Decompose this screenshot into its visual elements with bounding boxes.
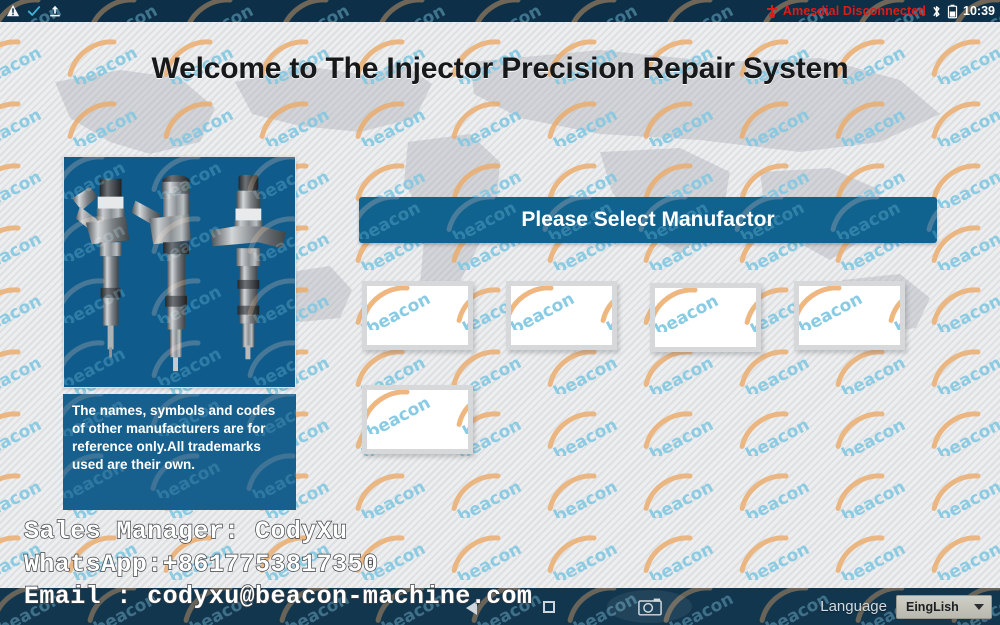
product-image-watermark [63,156,296,388]
trademark-disclaimer: The names, symbols and codes of other ma… [63,394,296,510]
language-select[interactable]: EingLish [896,595,992,619]
disclaimer-text: The names, symbols and codes of other ma… [72,403,275,472]
manufacturer-tile-grid [362,281,942,454]
select-manufactor-label: Please Select Manufactor [521,208,774,232]
screenshot-button[interactable] [607,590,692,623]
connection-status-text: Amesdial Disconnected [783,4,926,18]
contact-info-block: Sales Manager: CodyXu WhatsApp:+86177538… [24,516,532,614]
page-title: Welcome to The Injector Precision Repair… [0,52,1000,86]
tile-watermark [362,385,473,454]
contact-line-whatsapp: WhatsApp:+8617753817350 [24,549,532,582]
warning-triangle-icon [6,4,20,18]
camera-icon [638,597,662,616]
manufacturer-tile-3[interactable] [650,283,761,352]
status-bar-left-icons [6,0,62,22]
tile-watermark [650,283,761,352]
language-control: Language EingLish [820,588,992,625]
battery-icon [947,4,958,19]
chevron-down-icon [974,604,984,610]
manufacturer-tile-2[interactable] [506,281,617,350]
alert-cross-icon [766,4,778,18]
product-image-injectors [63,156,296,388]
select-manufactor-button[interactable]: Please Select Manufactor [359,197,937,243]
contact-line-email: Email : codyxu@beacon-machine.com [24,581,532,614]
contact-line-sales-manager: Sales Manager: CodyXu [24,516,532,549]
status-bar: Amesdial Disconnected 10:39 [0,0,1000,22]
status-bar-right-cluster: Amesdial Disconnected 10:39 [766,0,995,22]
tile-watermark [506,281,617,350]
app-root: Amesdial Disconnected 10:39 Welcome to T… [0,0,1000,625]
manufacturer-tile-4[interactable] [794,281,905,350]
manufacturer-tile-5[interactable] [362,385,473,454]
language-selected-value: EingLish [906,600,959,614]
square-recents-icon[interactable] [543,601,555,613]
tile-watermark [362,281,473,350]
clock-text: 10:39 [963,4,995,18]
tile-watermark [794,281,905,350]
bluetooth-icon [931,4,942,19]
language-label: Language [820,598,887,615]
manufacturer-tile-1[interactable] [362,281,473,350]
upload-icon [48,4,62,18]
check-icon [27,4,41,18]
